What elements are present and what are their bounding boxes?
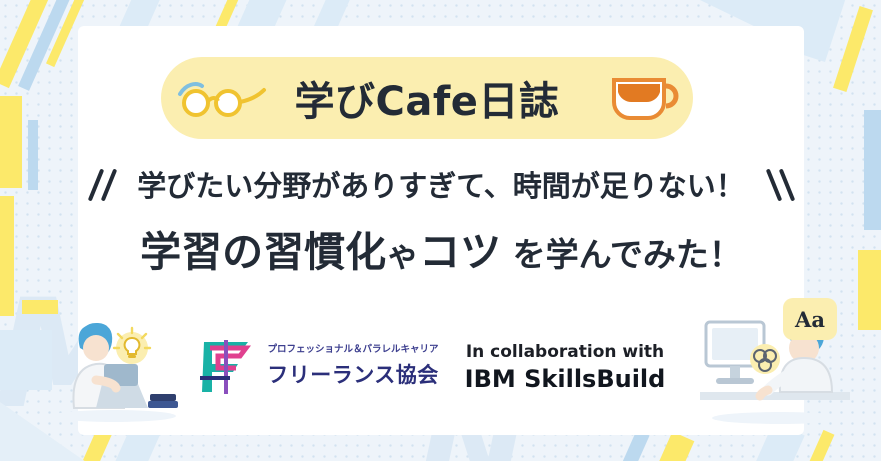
headline-line-2: 学習の習慣化ゃコツ を学んでみた！ [78,218,804,278]
freelance-association-logo [196,338,256,396]
ibm-collab-label: In collaboration with [460,342,670,362]
ibm-brand-label: IBM SkillsBuild [460,365,670,393]
headline-emphasis-2: コツ [419,228,501,276]
freelance-main-label: フリーランス協会 [258,359,448,389]
ibm-partner-block: In collaboration with IBM SkillsBuild [460,342,670,393]
glasses-icon [176,78,268,118]
aa-badge-label: Aa [795,307,825,332]
freelance-sub-label: プロフェッショナル＆パラレルキャリア [258,341,448,355]
deco-right-block-4 [858,250,881,330]
coffee-cup-icon [608,72,682,124]
deco-right-block-3 [864,110,881,230]
freelance-association-text: プロフェッショナル＆パラレルキャリア フリーランス協会 [258,341,448,389]
deco-left-block-2 [0,196,14,316]
deco-left-block-1 [0,96,22,188]
headline-tail: を学んでみた！ [501,235,742,274]
banner-image: M N 学びCafe日誌 [0,0,881,461]
page-title: 学びCafe日誌 [295,69,560,127]
headline-particle: ゃ [386,235,419,274]
headline-emphasis-1: 学習の習慣化 [140,228,386,276]
aa-badge: Aa [783,298,837,340]
speech-bubble-icon [742,336,788,382]
lightbulb-icon [108,324,156,372]
deco-left-block-3 [28,120,38,190]
headline-line-1: 学びたい分野がありすぎて、時間が足りない！ [78,163,804,205]
